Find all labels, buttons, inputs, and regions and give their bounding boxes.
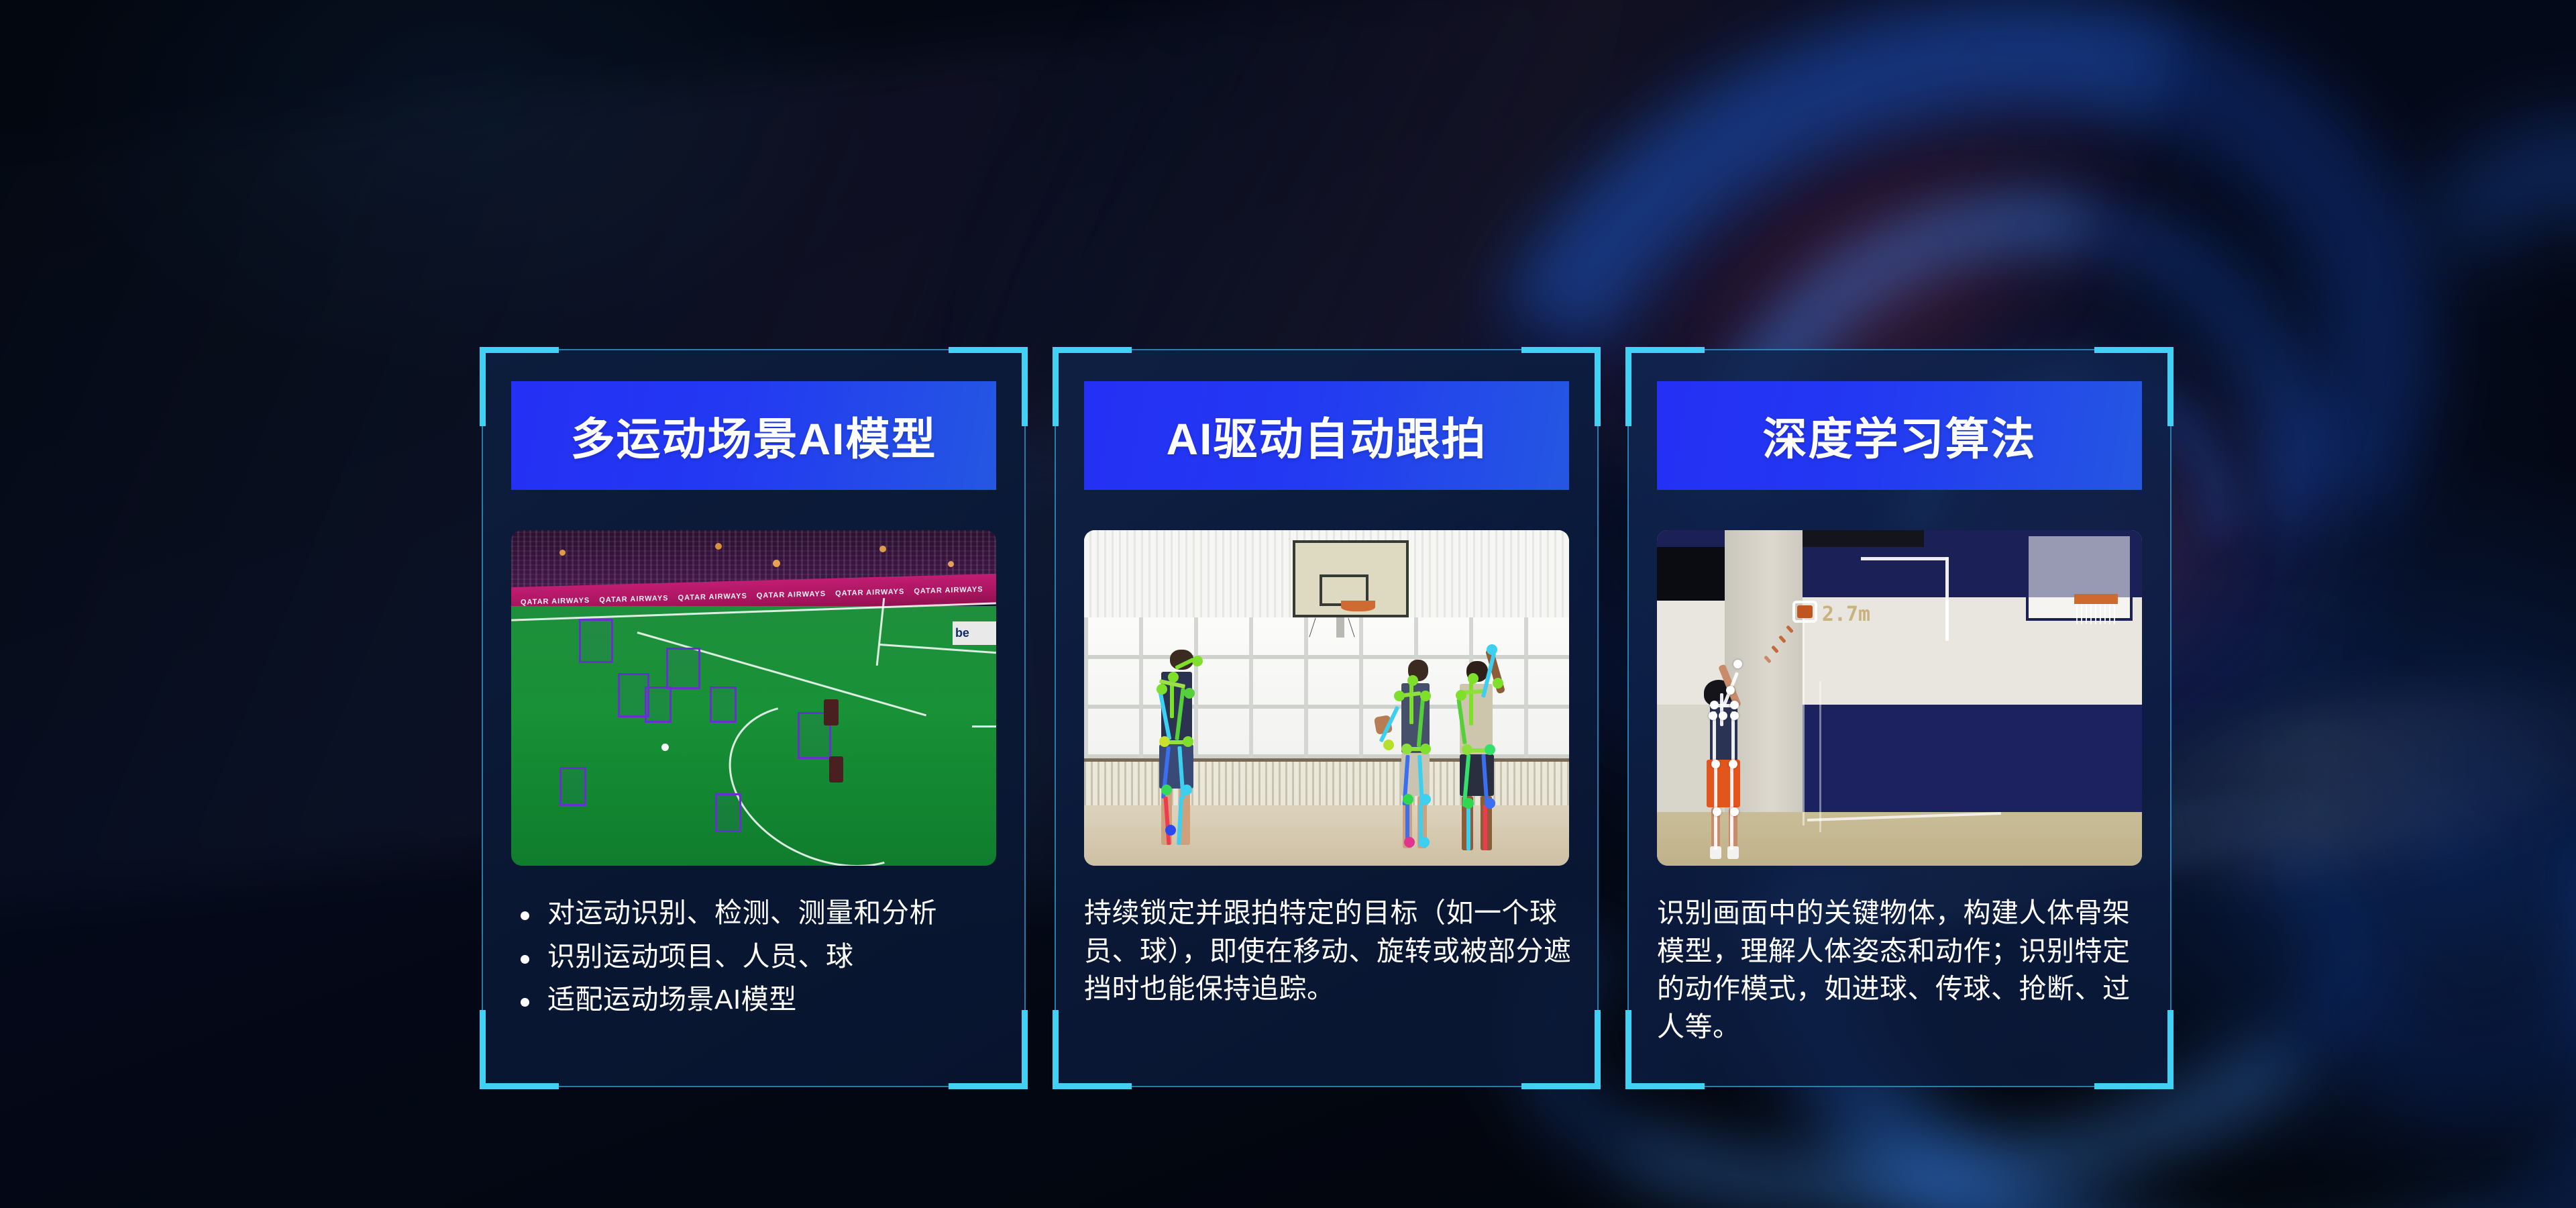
feature-card-row: 多运动场景AI模型 QATAR AIRWAYS QATAR AIRWAYS QA… [482,349,2172,1087]
detection-box [715,793,742,832]
soccer-ball [661,744,669,751]
card-title-banner: 多运动场景AI模型 [511,381,996,490]
sponsor-logo-label: be [955,626,969,640]
card-body-text: 对运动识别、检测、测量和分析 识别运动项目、人员、球 适配运动场景AI模型 [511,894,1008,1024]
detection-box [666,648,700,689]
card-body-text: 识别画面中的关键物体，构建人体骨架模型，理解人体姿态和动作；识别特定的动作模式，… [1657,894,2153,1046]
feature-card-deep-learning-algorithm[interactable]: 深度学习算法 [1627,349,2171,1087]
basketball-hoop [1341,601,1375,611]
page-root: 多运动场景AI模型 QATAR AIRWAYS QATAR AIRWAYS QA… [0,0,2576,1208]
scoreboard [1798,530,1924,547]
measurement-guide-horizontal [1861,557,1948,560]
card-paragraph: 识别画面中的关键物体，构建人体骨架模型，理解人体姿态和动作；识别特定的动作模式，… [1657,894,2153,1046]
detection-box [559,767,586,806]
measurement-label: 2.7m [1822,603,1870,626]
banner-text-repeat-1: QATAR AIRWAYS [590,594,668,604]
card-media-soccer-pose-detection[interactable]: QATAR AIRWAYS QATAR AIRWAYS QATAR AIRWAY… [511,530,996,866]
tracked-person-defender [1443,644,1521,852]
list-item: 识别运动项目、人员、球 [511,938,1008,976]
card-title-banner: AI驱动自动跟拍 [1084,381,1569,490]
feature-bullet-list: 对运动识别、检测、测量和分析 识别运动项目、人员、球 适配运动场景AI模型 [511,894,1008,1019]
list-item: 对运动识别、检测、测量和分析 [511,894,1008,932]
card-media-gym-skeleton-tracking[interactable] [1084,530,1569,866]
feature-card-ai-auto-tracking[interactable]: AI驱动自动跟拍 [1055,349,1599,1087]
banner-text: QATAR AIRWAYS [511,596,590,606]
tracked-person-left [1142,648,1220,849]
tracked-ball-box [1792,601,1817,623]
basketball-rim [2074,594,2118,604]
card-paragraph: 持续锁定并跟拍特定的目标（如一个球员、球），即使在移动、旋转或被部分遮挡时也能保… [1084,894,1580,1008]
detection-box [645,687,672,723]
detection-box [579,619,613,663]
detection-box [710,687,737,723]
hoop-pole [1336,614,1344,638]
banner-text-repeat-3: QATAR AIRWAYS [747,589,826,599]
tracked-shooter [1691,674,1764,859]
banner-text-repeat-2: QATAR AIRWAYS [669,592,747,602]
list-item: 适配运动场景AI模型 [511,980,1008,1019]
soccer-pitch: be [511,606,996,866]
court-wall-padding [1803,705,2142,812]
measurement-drop-line-secondary [1819,681,1821,832]
card-title-banner: 深度学习算法 [1657,381,2142,490]
measurement-guide-vertical [1945,557,1949,641]
card-media-shot-measurement[interactable]: 2.7m [1657,530,2142,866]
card-body-text: 持续锁定并跟拍特定的目标（如一个球员、球），即使在移动、旋转或被部分遮挡时也能保… [1084,894,1580,1008]
banner-text-repeat-5: QATAR AIRWAYS [904,585,983,595]
feature-card-multi-sport-ai-model[interactable]: 多运动场景AI模型 QATAR AIRWAYS QATAR AIRWAYS QA… [482,349,1026,1087]
background-ribbon-right-band [2200,90,2576,1158]
basketball-net [2076,604,2115,624]
banner-text-repeat-4: QATAR AIRWAYS [826,587,904,597]
measurement-drop-line [1803,617,1805,825]
